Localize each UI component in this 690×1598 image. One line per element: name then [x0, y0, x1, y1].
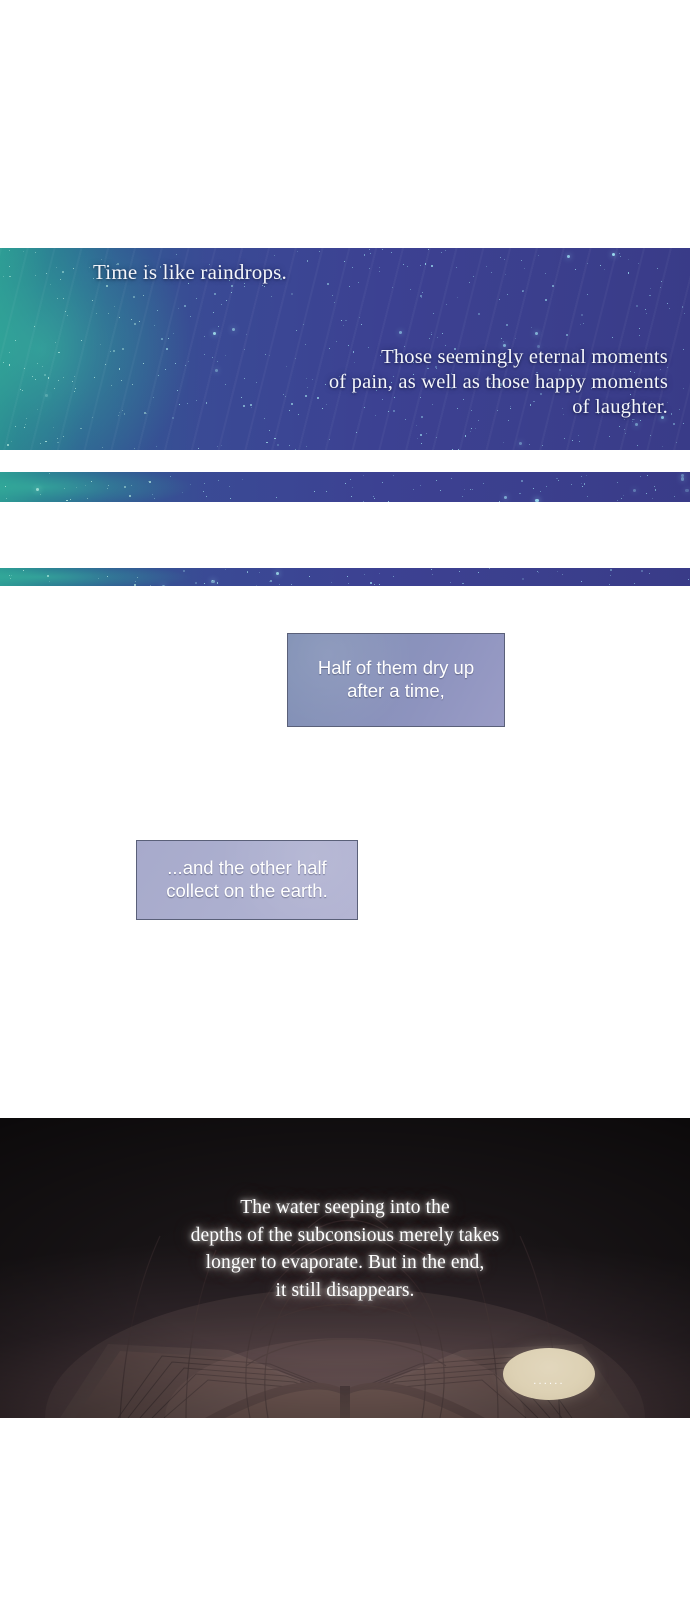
star-specks	[0, 472, 690, 502]
caption-box-half-dry-up: Half of them dry up after a time,	[287, 633, 505, 727]
narration-text-time-raindrops: Time is like raindrops.	[93, 260, 287, 286]
webtoon-page: Time is like raindrops. Those seemingly …	[0, 0, 690, 1598]
caption-box-other-half-collect: ...and the other half collect on the ear…	[136, 840, 358, 920]
narration-text-water-seeping: The water seeping into the depths of the…	[0, 1194, 690, 1305]
teal-glow-decoration	[0, 472, 190, 502]
panel-starry-strip-upper	[0, 472, 690, 502]
teal-glow-decoration	[0, 568, 190, 586]
star-specks	[0, 568, 690, 586]
narration-text-eternal-moments: Those seemingly eternal moments of pain,…	[329, 345, 668, 420]
panel-starry-sky-main: Time is like raindrops. Those seemingly …	[0, 248, 690, 450]
speech-bubble-ellipsis: ......	[503, 1348, 595, 1400]
panel-starry-strip-lower	[0, 568, 690, 586]
ellipsis-dots: ......	[533, 1376, 565, 1387]
